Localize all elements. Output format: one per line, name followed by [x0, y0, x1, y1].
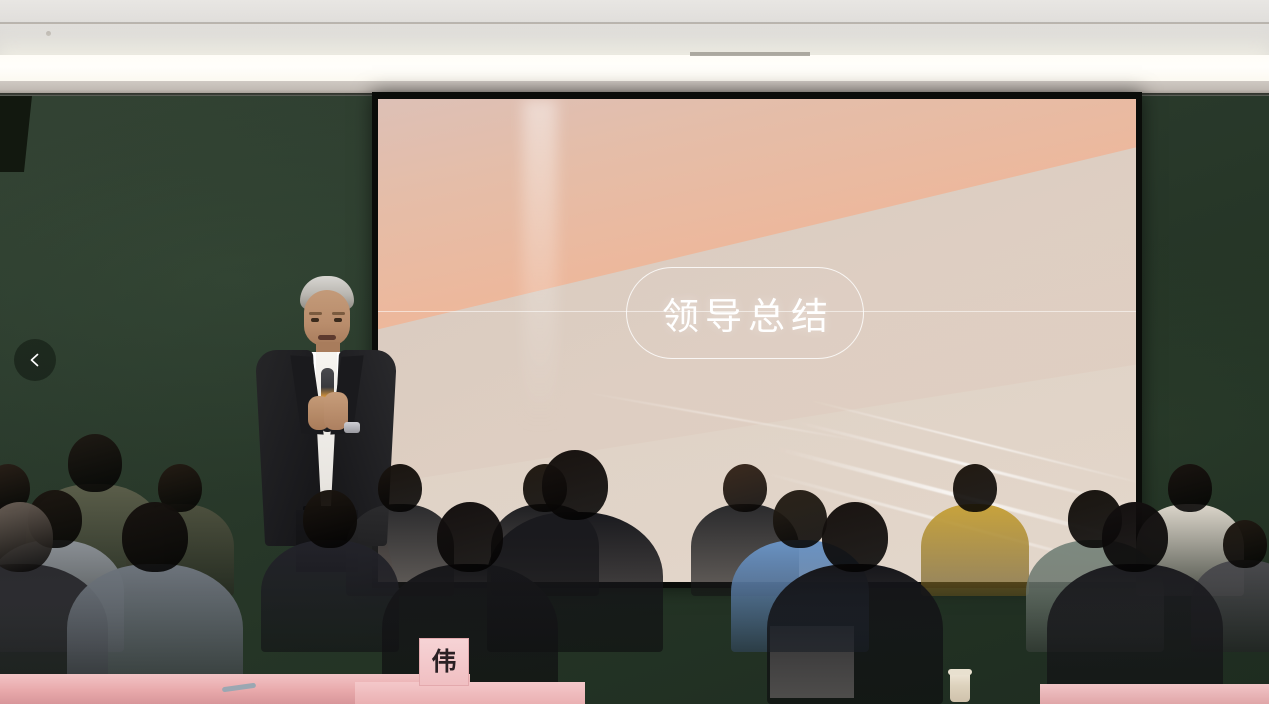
audience: 伟: [0, 430, 1269, 704]
presenter-mouth: [318, 335, 336, 340]
slide-title-text: 领导总结: [656, 286, 834, 340]
name-card: 伟: [419, 638, 469, 686]
audience-member-torso: [1047, 564, 1223, 704]
audience-member-torso: [261, 540, 399, 652]
ceiling-fixture-dot: [46, 31, 51, 36]
audience-member-torso: [767, 564, 943, 704]
paper-cup-lid: [948, 669, 972, 675]
presenter-eye: [334, 318, 342, 322]
ceiling-seam: [0, 23, 1269, 24]
audience-member-head: [822, 502, 888, 572]
audience-member-head: [0, 502, 53, 572]
audience-member: [767, 494, 943, 704]
presenter-brow: [332, 312, 345, 315]
audience-member: [382, 494, 558, 704]
conference-table: [355, 682, 585, 704]
prev-image-button[interactable]: [14, 339, 56, 381]
ceiling-light-strip: [0, 55, 1269, 81]
name-card-text: 伟: [431, 650, 456, 675]
slide-title-pill: 领导总结: [626, 267, 864, 359]
audience-member-head: [122, 502, 188, 572]
audience-member: [261, 482, 399, 652]
projector-light-bleed: [523, 99, 557, 429]
chevron-left-icon: [27, 352, 43, 368]
presenter-brow: [309, 312, 322, 315]
audience-member-head: [437, 502, 503, 572]
conference-table: [1040, 684, 1269, 704]
audience-member-head: [1223, 520, 1267, 568]
audience-member-head: [303, 490, 357, 548]
photo-viewer-stage: 领导总结 伟: [0, 0, 1269, 704]
audience-member: [67, 494, 243, 704]
audience-member-head: [953, 464, 997, 512]
paper-cup: [950, 672, 970, 702]
presenter-eye: [311, 318, 319, 322]
ceiling-vent: [690, 52, 810, 56]
audience-member-head: [1102, 502, 1168, 572]
audience-member: [1047, 494, 1223, 704]
